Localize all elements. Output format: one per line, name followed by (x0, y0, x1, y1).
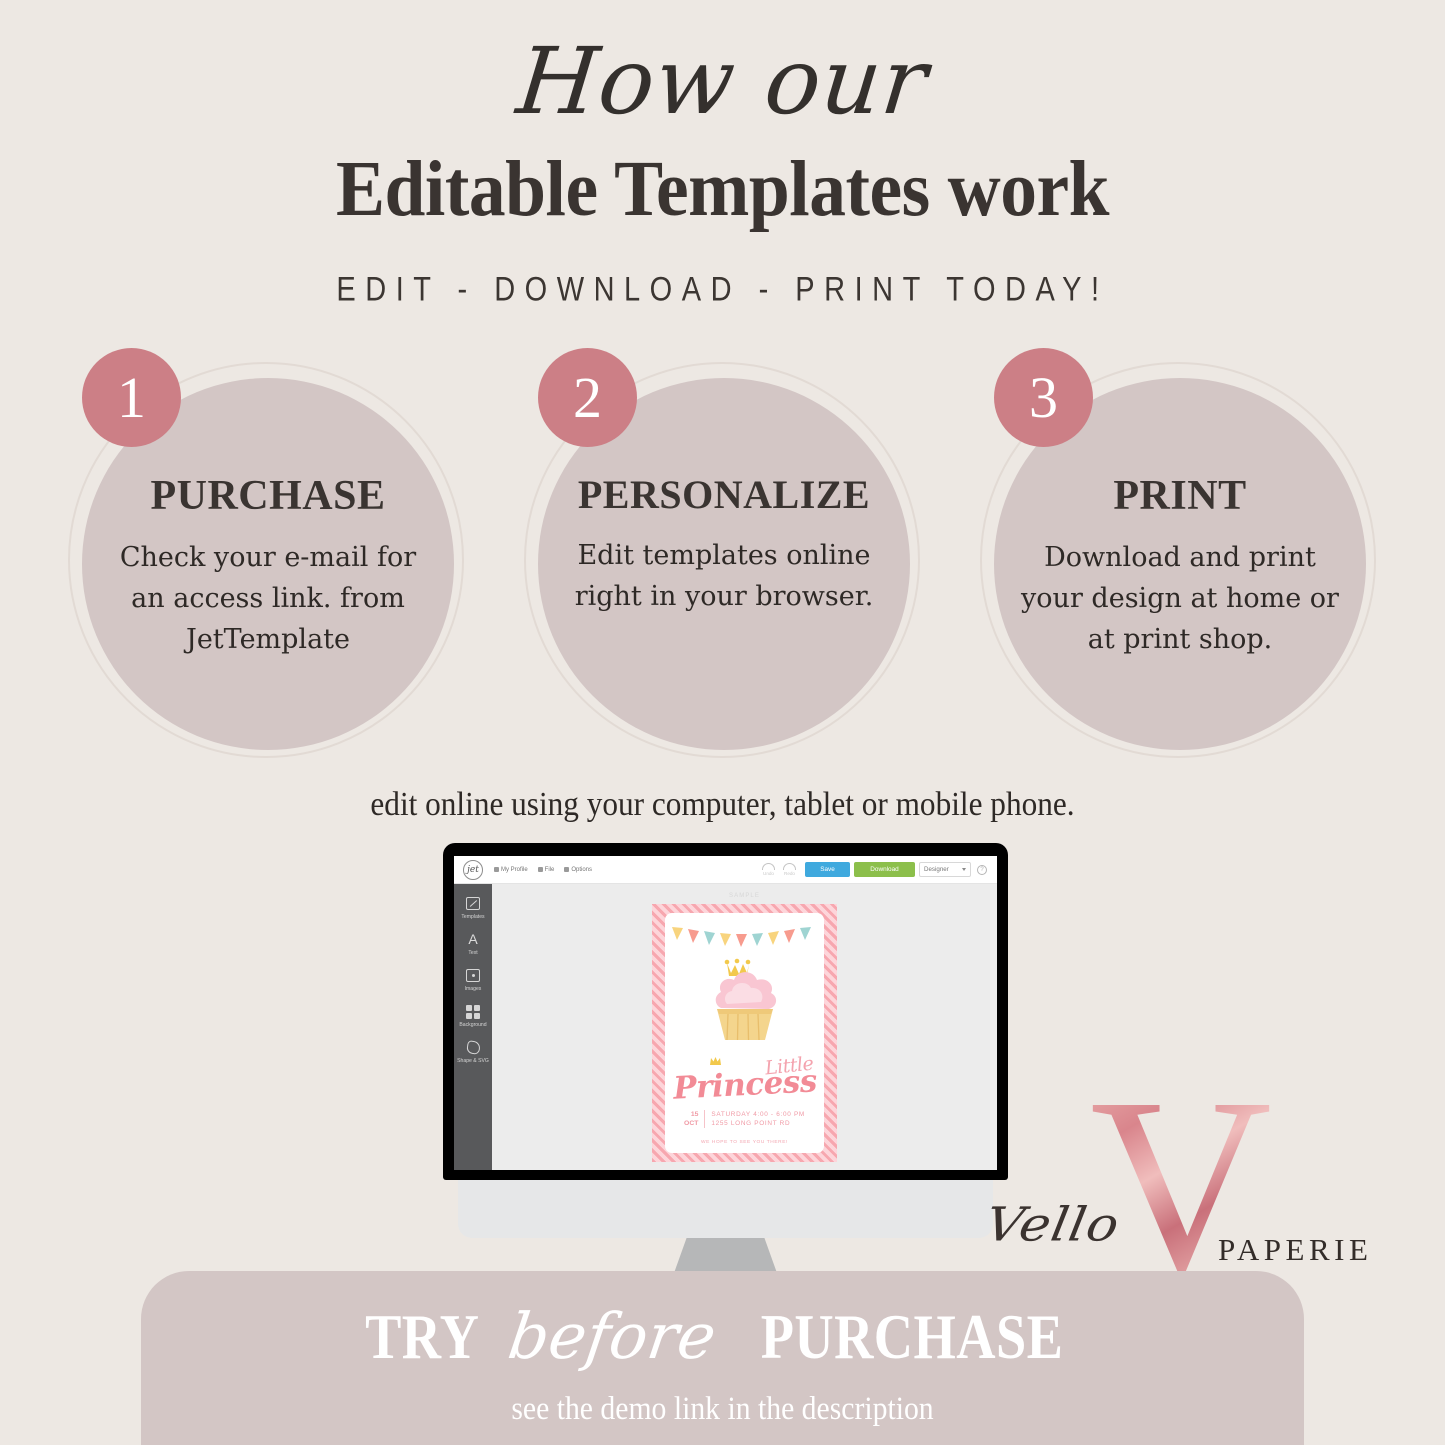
brand-script-name: Vello (981, 1198, 1124, 1252)
shape-icon (466, 1041, 480, 1054)
editor-menu: My Profile File Options (494, 867, 592, 873)
card-address-line: 1255 LONG POINT RD (711, 1119, 805, 1128)
editor-sidebar: Templates A Text Images (454, 884, 492, 1170)
monitor-bezel: jet My Profile File Options (443, 843, 1008, 1180)
device-caption: edit online using your computer, tablet … (58, 786, 1387, 824)
crown-icon (709, 1056, 722, 1066)
templates-icon (466, 897, 480, 910)
jet-logo: jet (463, 860, 483, 880)
undo-arrow-icon (762, 863, 775, 870)
user-icon (494, 867, 499, 872)
sidebar-item-templates[interactable]: Templates (454, 891, 492, 927)
page-title-script: How our (0, 34, 1445, 131)
steps-row: PURCHASE Check your e-mail for an access… (0, 362, 1445, 762)
infographic-page: How our Editable Templates work EDIT - D… (0, 0, 1445, 1445)
sidebar-label: Images (465, 986, 482, 992)
file-icon (538, 867, 543, 872)
card-details: SATURDAY 4:00 - 6:00 PM 1255 LONG POINT … (711, 1110, 805, 1129)
background-grid-icon (466, 1005, 480, 1018)
step-number-badge: 3 (994, 348, 1093, 447)
invitation-card[interactable]: Little Princess 15 OCT SATURDAY 4:00 - 6… (652, 904, 837, 1162)
banner-word-purchase: PURCHASE (760, 1305, 1063, 1369)
card-event-info: 15 OCT SATURDAY 4:00 - 6:00 PM 1255 LONG… (652, 1110, 837, 1129)
chevron-down-icon (962, 868, 966, 871)
image-icon (466, 969, 480, 982)
banner-subtext: see the demo link in the description (199, 1391, 1246, 1428)
sidebar-item-background[interactable]: Background (454, 999, 492, 1035)
step-description: Edit templates online right in your brow… (538, 535, 910, 617)
help-icon[interactable]: ? (977, 865, 987, 875)
sliders-icon (564, 867, 569, 872)
brand-logo: V Vello PAPERIE (986, 1082, 1356, 1297)
editor-body: Templates A Text Images (454, 884, 997, 1170)
bottom-banner: TRY before PURCHASE see the demo link in… (141, 1271, 1304, 1445)
card-footer-text: WE HOPE TO SEE YOU THERE! (652, 1140, 837, 1145)
step-title: PRINT (1113, 475, 1246, 517)
redo-label: Redo (784, 871, 795, 876)
card-title-princess: Princess (672, 1063, 817, 1106)
monitor-mockup: jet My Profile File Options (443, 843, 1008, 1301)
menu-label: My Profile (501, 867, 528, 873)
card-date-day: 15 (684, 1110, 698, 1119)
undo-button[interactable]: Undo (762, 863, 775, 876)
monitor-screen: jet My Profile File Options (454, 856, 997, 1170)
page-header: How our Editable Templates work EDIT - D… (0, 0, 1445, 307)
step-card-personalize: PERSONALIZE Edit templates online right … (524, 362, 920, 758)
brand-word: PAPERIE (1218, 1232, 1372, 1268)
canvas-sample-label: SAMPLE (729, 893, 760, 899)
menu-item-file[interactable]: File (538, 867, 555, 873)
redo-arrow-icon (783, 863, 796, 870)
sidebar-label: Shape & SVG (457, 1058, 489, 1064)
text-icon: A (466, 933, 480, 946)
history-controls: Undo Redo (762, 863, 796, 876)
monitor-chin (458, 1180, 993, 1238)
menu-label: Options (571, 867, 592, 873)
step-title: PERSONALIZE (578, 475, 870, 515)
sidebar-item-images[interactable]: Images (454, 963, 492, 999)
menu-item-options[interactable]: Options (564, 867, 592, 873)
sidebar-label: Background (459, 1022, 486, 1028)
sidebar-label: Templates (461, 914, 484, 920)
sidebar-item-text[interactable]: A Text (454, 927, 492, 963)
sidebar-item-shape-svg[interactable]: Shape & SVG (454, 1035, 492, 1071)
step-description: Check your e-mail for an access link. fr… (82, 537, 454, 660)
undo-label: Undo (763, 871, 774, 876)
step-number-badge: 1 (82, 348, 181, 447)
role-select[interactable]: Designer (919, 862, 971, 877)
card-date: 15 OCT (684, 1110, 698, 1128)
download-button[interactable]: Download (854, 862, 915, 877)
step-card-print: PRINT Download and print your design at … (980, 362, 1376, 758)
sidebar-label: Text (468, 950, 477, 956)
card-time-line: SATURDAY 4:00 - 6:00 PM (711, 1110, 805, 1119)
step-title: PURCHASE (150, 475, 385, 517)
page-tagline: EDIT - DOWNLOAD - PRINT TODAY! (0, 271, 1445, 310)
redo-button[interactable]: Redo (783, 863, 796, 876)
save-button[interactable]: Save (805, 862, 850, 877)
cupcake-icon (697, 956, 793, 1042)
card-divider (704, 1110, 705, 1128)
editor-toolbar: jet My Profile File Options (454, 856, 997, 884)
menu-label: File (545, 867, 555, 873)
step-number-badge: 2 (538, 348, 637, 447)
banner-headline: TRY before PURCHASE (141, 1305, 1304, 1369)
step-description: Download and print your design at home o… (994, 537, 1366, 660)
banner-word-before: before (504, 1305, 719, 1368)
page-title: Editable Templates work (51, 147, 1395, 232)
step-card-purchase: PURCHASE Check your e-mail for an access… (68, 362, 464, 758)
card-date-month: OCT (684, 1119, 698, 1128)
editor-canvas[interactable]: SAMPLE (492, 884, 997, 1170)
bunting-icon (666, 923, 823, 953)
role-select-value: Designer (924, 866, 949, 873)
menu-item-my-profile[interactable]: My Profile (494, 867, 528, 873)
banner-word-try: TRY (365, 1305, 479, 1369)
